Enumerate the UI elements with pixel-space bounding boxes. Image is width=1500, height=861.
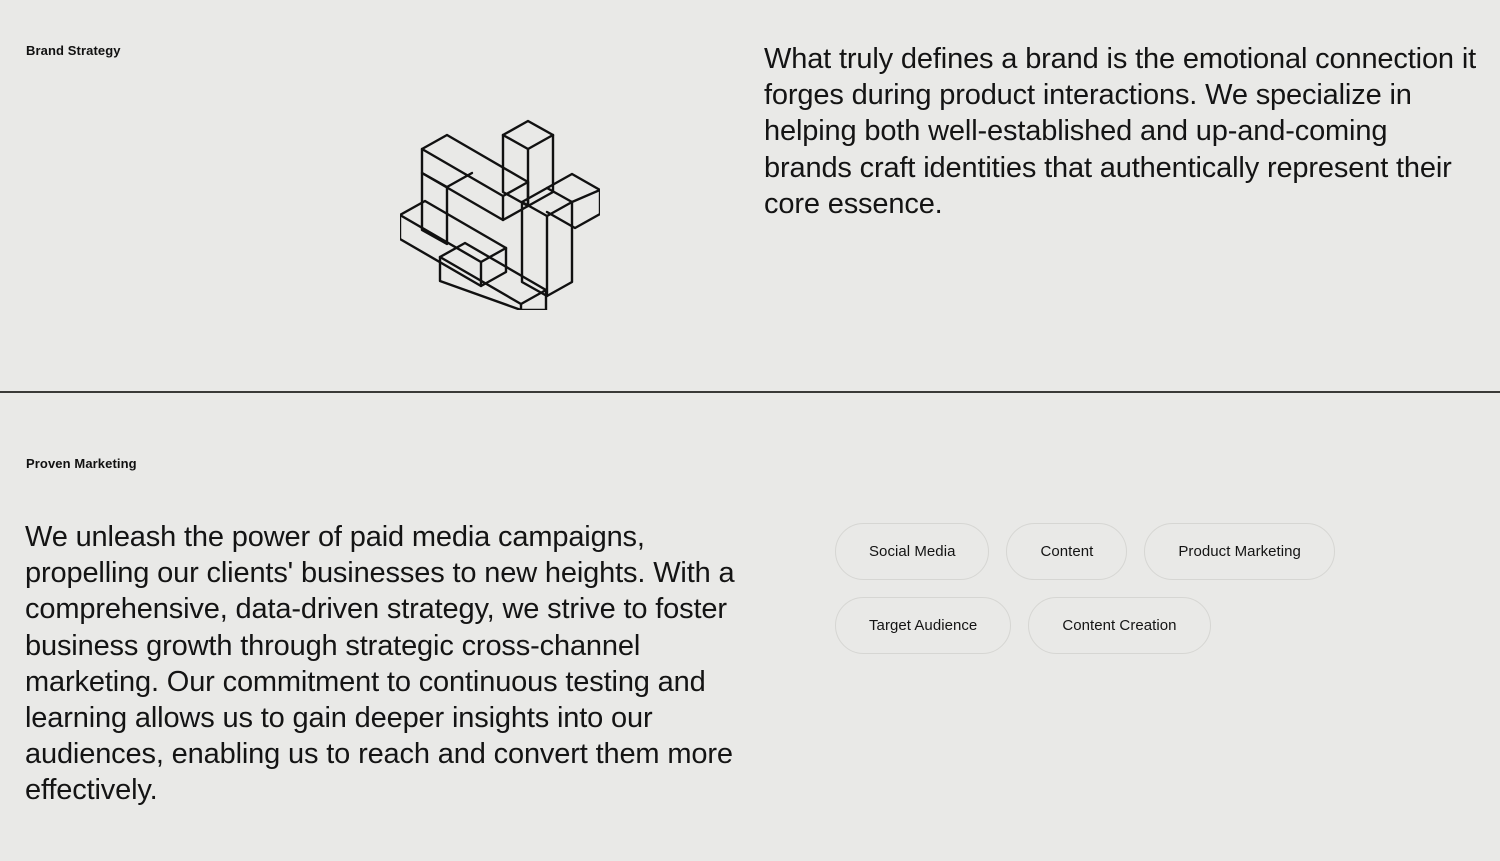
brand-strategy-section: Brand Strategy (0, 0, 1500, 392)
tag-pill-content-creation[interactable]: Content Creation (1028, 597, 1210, 654)
tag-pill-product-marketing[interactable]: Product Marketing (1144, 523, 1335, 580)
page-root: Brand Strategy (0, 0, 1500, 861)
brand-strategy-eyebrow-label: Brand Strategy (26, 43, 121, 59)
tag-pill-target-audience[interactable]: Target Audience (835, 597, 1011, 654)
marketing-tag-list: Social Media Content Product Marketing T… (835, 523, 1435, 654)
brand-strategy-body-text: What truly defines a brand is the emotio… (764, 41, 1478, 222)
tag-pill-social-media[interactable]: Social Media (835, 523, 989, 580)
proven-marketing-body-text: We unleash the power of paid media campa… (25, 519, 741, 809)
proven-marketing-section: Proven Marketing We unleash the power of… (0, 393, 1500, 861)
isometric-knot-icon (400, 110, 600, 310)
tag-pill-content[interactable]: Content (1006, 523, 1127, 580)
proven-marketing-eyebrow-label: Proven Marketing (26, 456, 137, 472)
